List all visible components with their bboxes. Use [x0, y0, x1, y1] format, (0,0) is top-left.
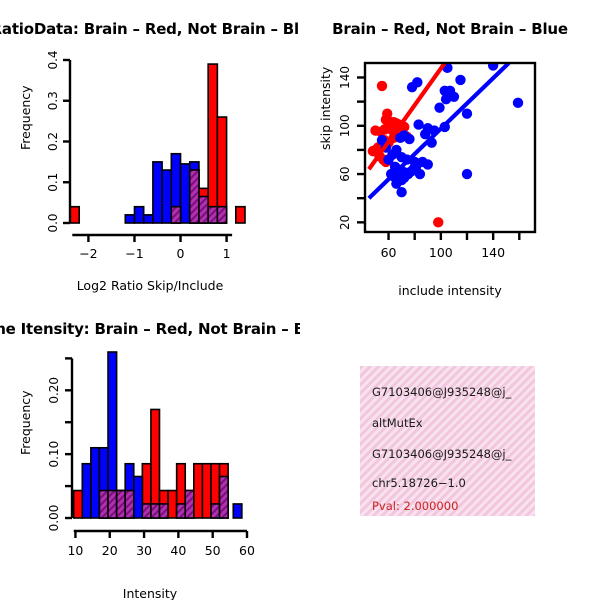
histogram-bar [99, 491, 108, 518]
histogram-bar [171, 207, 180, 223]
info-line-gene-id-bottom: G7103406@J935248@j_ [372, 447, 511, 461]
intensity-histogram-ylabel: Frequency [18, 390, 33, 455]
panel-intensity-histogram: ne Itensity: Brain – Red, Not Brain – B … [0, 300, 300, 600]
scatter-point [488, 60, 498, 70]
histogram-bar [117, 491, 126, 518]
ratio-histogram-xlabel: Log2 Ratio Skip/Include [77, 278, 224, 293]
intensity-histogram-plot: 0.000.100.20102030405060 [0, 300, 300, 600]
x-tick-label: 60 [239, 543, 255, 558]
x-tick-label: −2 [79, 246, 97, 261]
panel-ratio-histogram: RatioData: Brain – Red, Not Brain – Blu … [0, 0, 300, 300]
x-tick-label: 10 [67, 543, 83, 558]
histogram-bar [144, 215, 153, 223]
scatter-point [434, 102, 444, 112]
scatter-point [462, 169, 472, 179]
histogram-bar [168, 491, 177, 518]
histogram-bar [236, 207, 245, 223]
histogram-bar [153, 162, 162, 223]
histogram-bar [220, 477, 229, 519]
panel-annotation-info: G7103406@J935248@j_ altMutEx G7103406@J9… [300, 300, 600, 600]
histogram-bar [190, 170, 199, 223]
histogram-bar [194, 464, 203, 518]
histogram-bar [134, 207, 143, 223]
x-tick-label: 60 [381, 245, 397, 260]
histogram-bar [151, 409, 160, 518]
histogram-bar [181, 164, 190, 223]
regression-line [369, 63, 445, 169]
y-tick-label: 20 [338, 215, 352, 230]
info-line-pval: Pval: 2.000000 [372, 499, 458, 513]
x-tick-label: 30 [136, 543, 152, 558]
scatter-point [423, 159, 433, 169]
x-tick-label: 140 [481, 245, 505, 260]
ratio-histogram-ylabel: Frequency [18, 85, 33, 150]
histogram-bar [125, 215, 134, 223]
annotation-box: G7103406@J935248@j_ altMutEx G7103406@J9… [360, 366, 535, 516]
y-tick-label: 140 [338, 66, 352, 89]
histogram-bar [82, 464, 91, 518]
info-line-coordinate: chr5.18726−1.0 [372, 476, 466, 490]
scatter-point [383, 154, 393, 164]
y-tick-label: 0.1 [46, 173, 60, 192]
x-tick-label: 20 [102, 543, 118, 558]
scatter-plot: 206010014060100140 [300, 0, 600, 300]
x-tick-label: −1 [125, 246, 143, 261]
scatter-point [462, 109, 472, 119]
scatter-point [396, 187, 406, 197]
scatter-point [407, 82, 417, 92]
scatter-point [455, 75, 465, 85]
ratio-histogram-plot: 0.00.10.20.30.4−2−101 [0, 0, 300, 300]
histogram-bar [160, 504, 169, 518]
intensity-histogram-xlabel: Intensity [123, 586, 177, 600]
x-tick-label: 50 [205, 543, 221, 558]
scatter-point [404, 134, 414, 144]
scatter-point [449, 92, 459, 102]
histogram-bar [134, 477, 143, 519]
y-tick-label: 0.20 [47, 377, 61, 404]
histogram-bar [108, 491, 117, 518]
scatter-point [415, 169, 425, 179]
scatter-point [413, 119, 423, 129]
histogram-bar [233, 504, 242, 518]
y-tick-label: 0.4 [46, 50, 60, 69]
histogram-bar [142, 504, 151, 518]
scatter-point [513, 98, 523, 108]
histogram-bar [125, 491, 134, 518]
histogram-bar [70, 207, 79, 223]
x-tick-label: 0 [177, 246, 185, 261]
x-tick-label: 1 [223, 246, 231, 261]
y-tick-label: 60 [338, 166, 352, 181]
y-tick-label: 0.0 [46, 213, 60, 232]
panel-intensity-scatter: Brain – Red, Not Brain – Blue 2060100140… [300, 0, 600, 300]
scatter-point [433, 217, 443, 227]
histogram-bar [74, 491, 83, 518]
info-line-gene-id-top: G7103406@J935248@j_ [372, 385, 511, 399]
info-line-event-type: altMutEx [372, 416, 423, 430]
histogram-bar [199, 197, 208, 223]
x-tick-label: 40 [170, 543, 186, 558]
y-tick-label: 0.3 [46, 91, 60, 110]
histogram-bar [202, 464, 211, 518]
scatter-xlabel: include intensity [398, 283, 501, 298]
histogram-bar [185, 491, 194, 518]
histogram-bar [211, 504, 220, 518]
x-tick-label: 100 [429, 245, 453, 260]
histogram-bar [151, 504, 160, 518]
scatter-ylabel: skip intensity [318, 67, 333, 150]
histogram-bar [217, 207, 226, 223]
y-tick-label: 100 [338, 114, 352, 137]
scatter-point [377, 81, 387, 91]
y-tick-label: 0.00 [47, 505, 61, 532]
histogram-bar [162, 170, 171, 223]
histogram-bar [208, 207, 217, 223]
histogram-bar [91, 448, 100, 518]
y-tick-label: 0.10 [47, 441, 61, 468]
histogram-bar [208, 64, 217, 223]
histogram-bar [177, 504, 186, 518]
scatter-point [395, 133, 405, 143]
y-tick-label: 0.2 [46, 132, 60, 151]
